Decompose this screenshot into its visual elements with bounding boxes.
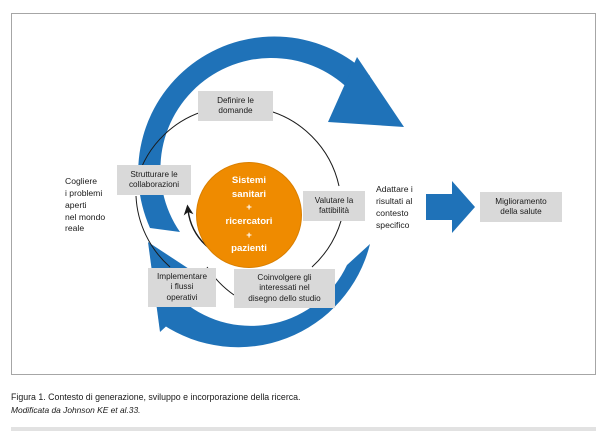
caption-title: Figura 1. Contesto di generazione, svilu… (11, 391, 571, 404)
label-adapt-results-to-context: Adattare i risultati al contesto specifi… (376, 184, 432, 231)
node-engage-stakeholders[interactable]: Coinvolgere gli interessati nel disegno … (234, 269, 335, 308)
core-circle: Sistemi sanitari + ricercatori + pazient… (196, 162, 302, 268)
figure-page: Sistemi sanitari + ricercatori + pazient… (0, 0, 607, 439)
node-define-questions[interactable]: Definire le domande (198, 91, 273, 121)
bottom-divider (11, 427, 596, 431)
caption-source: Modificata da Johnson KE et al.33. (11, 404, 571, 417)
node-implement-workflows[interactable]: Implementare i flussi operativi (148, 268, 216, 307)
node-structure-collaborations[interactable]: Strutturare le collaborazioni (117, 165, 191, 195)
label-capture-real-world-problems: Cogliere i problemi aperti nel mondo rea… (65, 176, 121, 235)
right-pointing-block-arrow (426, 181, 475, 233)
figure-frame: Sistemi sanitari + ricercatori + pazient… (11, 13, 596, 375)
node-health-improvement[interactable]: Miglioramento della salute (480, 192, 562, 222)
figure-caption: Figura 1. Contesto di generazione, svilu… (11, 391, 571, 417)
node-assess-feasibility[interactable]: Valutare la fattibilità (303, 191, 365, 221)
